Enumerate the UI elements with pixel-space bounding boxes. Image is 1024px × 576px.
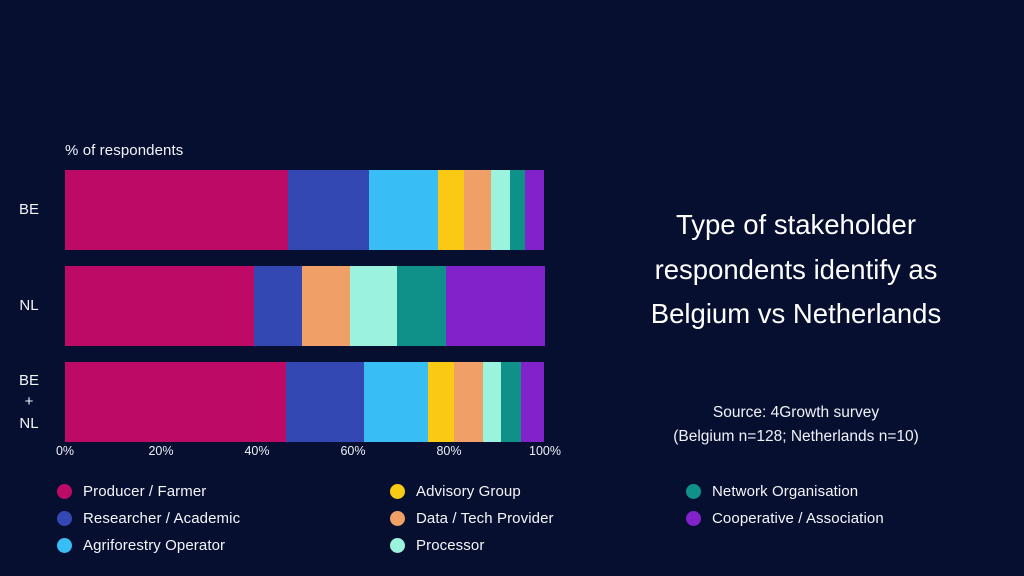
legend-item[interactable]: Advisory Group [390, 478, 554, 505]
chart-title-line: respondents identify as [612, 248, 980, 293]
bar-segment [397, 266, 446, 346]
bar-row-label: NL [0, 266, 58, 346]
legend-item-label: Producer / Farmer [83, 483, 206, 500]
x-axis-tick-label: 100% [529, 444, 561, 458]
bar-segment [288, 170, 369, 250]
bar-segment [483, 362, 501, 442]
x-axis-tick-label: 0% [56, 444, 74, 458]
legend-item-label: Agriforestry Operator [83, 537, 225, 554]
bar-row-label-line: BE [19, 370, 39, 391]
bar-segment [464, 170, 491, 250]
source-note-line: (Belgium n=128; Netherlands n=10) [612, 425, 980, 449]
bar-row-label-line: NL [19, 295, 38, 316]
legend-swatch-icon [390, 484, 405, 499]
bar-segment [286, 362, 364, 442]
legend-item[interactable]: Producer / Farmer [57, 478, 240, 505]
bar-segment [302, 266, 350, 346]
legend-item[interactable]: Researcher / Academic [57, 505, 240, 532]
bar-row-label-line: NL [19, 413, 38, 434]
bar-row-label: BE [0, 170, 58, 250]
right-text-panel: Type of stakeholder respondents identify… [600, 0, 1024, 576]
legend-swatch-icon [390, 538, 405, 553]
x-axis-tick-label: 40% [244, 444, 269, 458]
bar-segment [254, 266, 302, 346]
bar-segment [364, 362, 428, 442]
bar-segment [65, 362, 286, 442]
bar-segment [525, 170, 544, 250]
legend-item[interactable]: Data / Tech Provider [390, 505, 554, 532]
bar-row-label: BE + NL [0, 362, 58, 442]
chart-title-line: Type of stakeholder [612, 203, 980, 248]
bar-segment [501, 362, 521, 442]
legend-item-label: Processor [416, 537, 484, 554]
bar-segment [65, 266, 254, 346]
legend-swatch-icon [57, 511, 72, 526]
legend-column: Advisory GroupData / Tech ProviderProces… [390, 478, 554, 559]
source-note-line: Source: 4Growth survey [612, 401, 980, 425]
bar-segment [428, 362, 454, 442]
x-axis-tick-label: 60% [340, 444, 365, 458]
bar-track [65, 170, 545, 250]
bar-segment [438, 170, 464, 250]
bar-segment [369, 170, 438, 250]
x-axis-tick-label: 20% [148, 444, 173, 458]
bar-segment [491, 170, 510, 250]
x-axis-tick-label: 80% [436, 444, 461, 458]
bar-track [65, 266, 545, 346]
axis-caption: % of respondents [65, 142, 183, 159]
legend-column: Producer / FarmerResearcher / AcademicAg… [57, 478, 240, 559]
x-axis: 0%20%40%60%80%100% [65, 444, 545, 464]
chart-title: Type of stakeholder respondents identify… [612, 203, 980, 337]
legend-item-label: Data / Tech Provider [416, 510, 554, 527]
chart-title-line: Belgium vs Netherlands [612, 292, 980, 337]
legend-swatch-icon [390, 511, 405, 526]
bar-segment [65, 170, 288, 250]
bar-segment [521, 362, 544, 442]
bar-segment [446, 266, 545, 346]
bar-row-label-line: + [25, 391, 34, 412]
legend-item-label: Advisory Group [416, 483, 521, 500]
bar-row-label-line: BE [19, 199, 39, 220]
bar-track [65, 362, 545, 442]
legend-item[interactable]: Processor [390, 532, 554, 559]
legend-item[interactable]: Agriforestry Operator [57, 532, 240, 559]
legend-swatch-icon [57, 484, 72, 499]
bar-segment [454, 362, 483, 442]
legend-swatch-icon [57, 538, 72, 553]
source-note: Source: 4Growth survey (Belgium n=128; N… [612, 401, 980, 448]
bar-segment [510, 170, 525, 250]
bar-segment [350, 266, 397, 346]
legend-item-label: Researcher / Academic [83, 510, 240, 527]
